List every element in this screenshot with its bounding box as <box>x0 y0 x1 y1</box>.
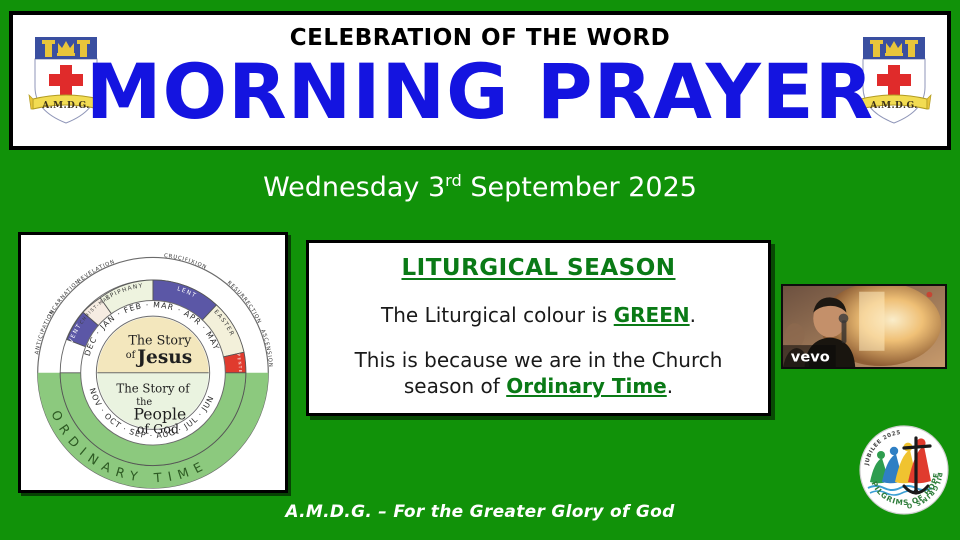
date-weekday-day: Wednesday 3 <box>263 172 445 203</box>
wheel-center-of: of <box>126 350 137 361</box>
vevo-watermark: vevo <box>791 349 830 365</box>
colour-sentence-prefix: The Liturgical colour is <box>381 303 614 327</box>
wheel-center-story: The Story <box>128 332 192 347</box>
date-line: Wednesday 3rd September 2025 <box>0 172 960 203</box>
colour-sentence-suffix: . <box>690 303 696 327</box>
wheel-center-people-4: of God <box>137 421 179 436</box>
wheel-center-jesus: Jesus <box>135 347 192 368</box>
liturgical-season-box: LITURGICAL SEASON The Liturgical colour … <box>306 240 771 416</box>
svg-text:A.M.D.G.: A.M.D.G. <box>869 101 918 111</box>
footer-motto: A.M.D.G. – For the Greater Glory of God <box>0 502 960 522</box>
liturgical-calendar-wheel-image: ANTICIPATION INCARNATION REVELATION CRUC… <box>18 232 288 493</box>
music-video-thumbnail[interactable]: vevo <box>781 284 947 369</box>
date-ordinal-suffix: rd <box>445 171 462 190</box>
wheel-center-people-1: The Story of <box>116 381 191 395</box>
date-month-year: September 2025 <box>462 172 697 203</box>
page-title: MORNING PRAYER <box>86 54 874 130</box>
season-sentence-suffix: . <box>667 374 673 398</box>
church-season-sentence: This is because we are in the Church sea… <box>309 347 768 399</box>
title-banner: A.M.D.G. A.M.D.G. <box>9 11 951 150</box>
liturgical-season-heading: LITURGICAL SEASON <box>401 255 675 281</box>
banner-text-block: CELEBRATION OF THE WORD MORNING PRAYER <box>113 15 847 146</box>
liturgical-colour-value: GREEN <box>614 303 690 327</box>
liturgical-colour-sentence: The Liturgical colour is GREEN. <box>381 303 696 327</box>
svg-text:A.M.D.G.: A.M.D.G. <box>41 101 90 111</box>
church-season-value: Ordinary Time <box>506 374 667 398</box>
prayer-slide: A.M.D.G. A.M.D.G. <box>0 0 960 540</box>
